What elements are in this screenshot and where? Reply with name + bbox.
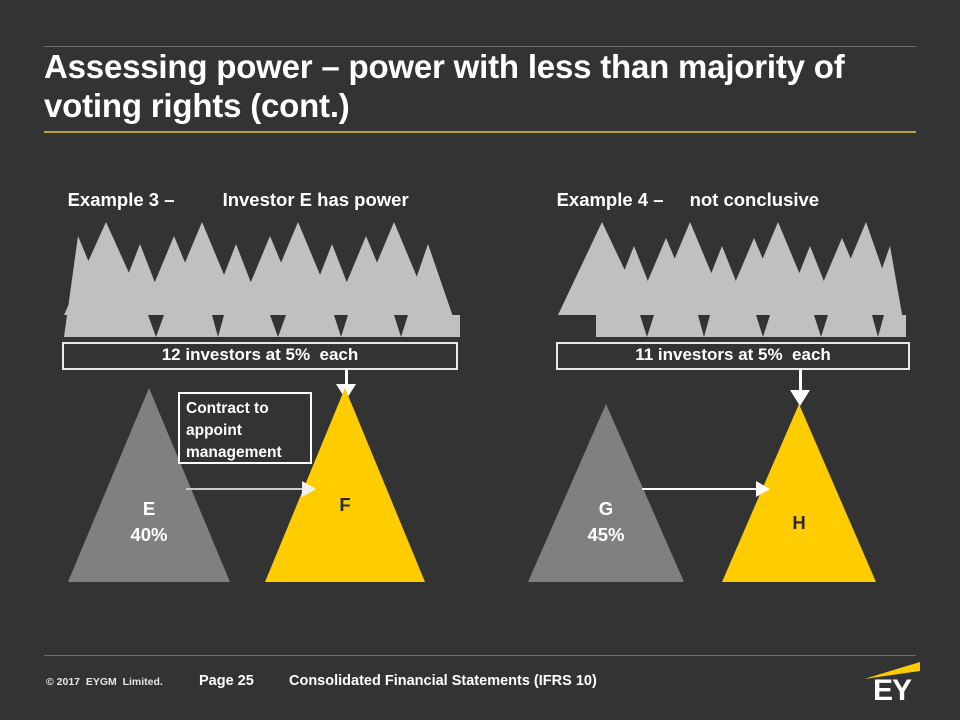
footer-copyright: © 2017 EYGM Limited. — [46, 676, 163, 688]
arrow-stem — [799, 368, 802, 392]
example-4-conclusion: not conclusive — [690, 189, 820, 210]
footer-rule — [44, 655, 916, 656]
example-4-label: Example 4 – — [557, 187, 690, 213]
bracket-top-bar — [62, 342, 458, 344]
example-3-conclusion: Investor E has power — [223, 187, 423, 213]
example-4-investor-bracket: 11 investors at 5% each — [556, 342, 910, 370]
title-rule-bottom — [44, 131, 916, 133]
bracket-bottom-bar — [556, 368, 910, 370]
example-4-investor-caption: 11 investors at 5% each — [556, 345, 910, 365]
example-3-investor-bracket: 12 investors at 5% each — [62, 342, 458, 370]
entity-h-name: H — [722, 510, 876, 536]
entity-e-name: E — [143, 498, 155, 519]
ey-logo-text: EY — [862, 676, 922, 706]
example-3-investor-caption: 12 investors at 5% each — [62, 345, 458, 365]
contract-label-box: Contract to appoint management — [178, 392, 312, 464]
title-rule-top — [44, 46, 916, 47]
example-4-investor-crowd — [558, 222, 906, 338]
arrow-shaft — [186, 488, 304, 490]
bracket-top-bar — [556, 342, 910, 344]
entity-g-name: G — [599, 498, 613, 519]
arrow-shaft — [642, 488, 758, 490]
ey-logo: EY — [862, 662, 922, 710]
entity-e-percent: 40% — [130, 524, 167, 545]
example-3-investor-crowd — [64, 222, 460, 338]
contract-label-text: Contract to appoint management — [186, 398, 305, 464]
example-4-relationship-arrow — [642, 481, 770, 497]
bracket-bottom-bar — [62, 368, 458, 370]
example-4-down-arrow — [780, 368, 820, 406]
entity-g-label: G45% — [528, 496, 684, 547]
example-3-label: Example 3 – — [68, 187, 223, 213]
footer-page-number: Page 25 — [199, 673, 254, 689]
arrow-head-icon — [756, 481, 770, 497]
arrow-head-icon — [302, 481, 316, 497]
entity-g-percent: 45% — [587, 524, 624, 545]
page-title: Assessing power – power with less than m… — [44, 48, 864, 126]
slide-canvas: Assessing power – power with less than m… — [0, 0, 960, 720]
contract-arrow — [186, 481, 316, 497]
footer-subject: Consolidated Financial Statements (IFRS … — [289, 673, 597, 689]
entity-e-label: E40% — [68, 496, 230, 547]
